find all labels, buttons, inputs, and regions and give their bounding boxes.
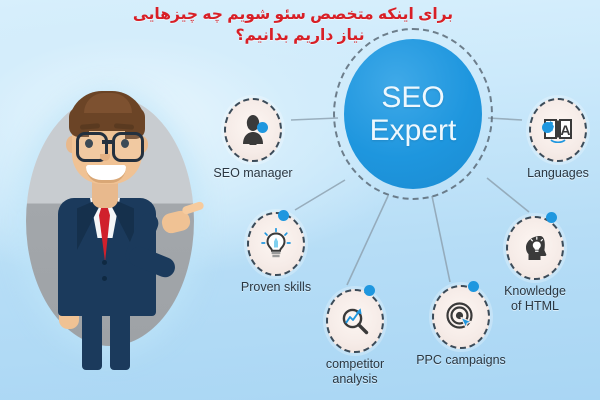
node-languages[interactable]: A Languages	[510, 98, 600, 180]
svg-text:A: A	[560, 122, 570, 138]
center-hub: SEO Expert	[333, 28, 493, 200]
lightbulb-icon	[261, 228, 291, 260]
node-competitor-analysis-connector-dot	[364, 285, 375, 296]
node-seo-manager[interactable]: SEO manager	[205, 98, 301, 180]
node-languages-bubble[interactable]: A	[529, 98, 587, 162]
node-ppc-campaigns[interactable]: PPC campaigns	[413, 285, 509, 367]
hub-title-line1: SEO	[381, 81, 444, 114]
node-proven-skills-bubble[interactable]	[247, 212, 305, 276]
link-knowledge-html	[487, 178, 529, 212]
node-ppc-campaigns-bubble[interactable]	[432, 285, 490, 349]
node-competitor-analysis-label: competitor analysis	[307, 357, 403, 387]
node-seo-manager-connector-dot	[257, 122, 268, 133]
hub-core-circle: SEO Expert	[344, 39, 482, 189]
target-cursor-icon	[445, 301, 477, 333]
node-knowledge-of-html-label-line2: of HTML	[511, 299, 559, 313]
node-proven-skills[interactable]: Proven skills	[228, 212, 324, 294]
link-ppc-campaigns	[432, 196, 450, 282]
node-languages-label: Languages	[510, 166, 600, 180]
seo-expert-infographic: برای اینکه متخصص سئو شویم چه چیزهایی نیا…	[0, 0, 600, 400]
node-languages-connector-dot	[542, 122, 553, 133]
node-ppc-campaigns-connector-dot	[468, 281, 479, 292]
hub-title-line2: Expert	[370, 114, 457, 147]
head-idea-icon	[520, 233, 550, 263]
connector-lines	[0, 0, 600, 400]
node-seo-manager-label: SEO manager	[205, 166, 301, 180]
magnifier-chart-icon	[339, 305, 371, 337]
node-knowledge-of-html-label-line1: Knowledge	[504, 284, 566, 298]
node-knowledge-of-html-connector-dot	[546, 212, 557, 223]
link-competitor-analysis	[347, 196, 388, 285]
node-seo-manager-bubble[interactable]	[224, 98, 282, 162]
node-knowledge-of-html-bubble[interactable]	[506, 216, 564, 280]
node-proven-skills-connector-dot	[278, 210, 289, 221]
node-ppc-campaigns-label: PPC campaigns	[413, 353, 509, 367]
node-competitor-analysis-bubble[interactable]	[326, 289, 384, 353]
node-competitor-analysis[interactable]: competitor analysis	[307, 289, 403, 387]
